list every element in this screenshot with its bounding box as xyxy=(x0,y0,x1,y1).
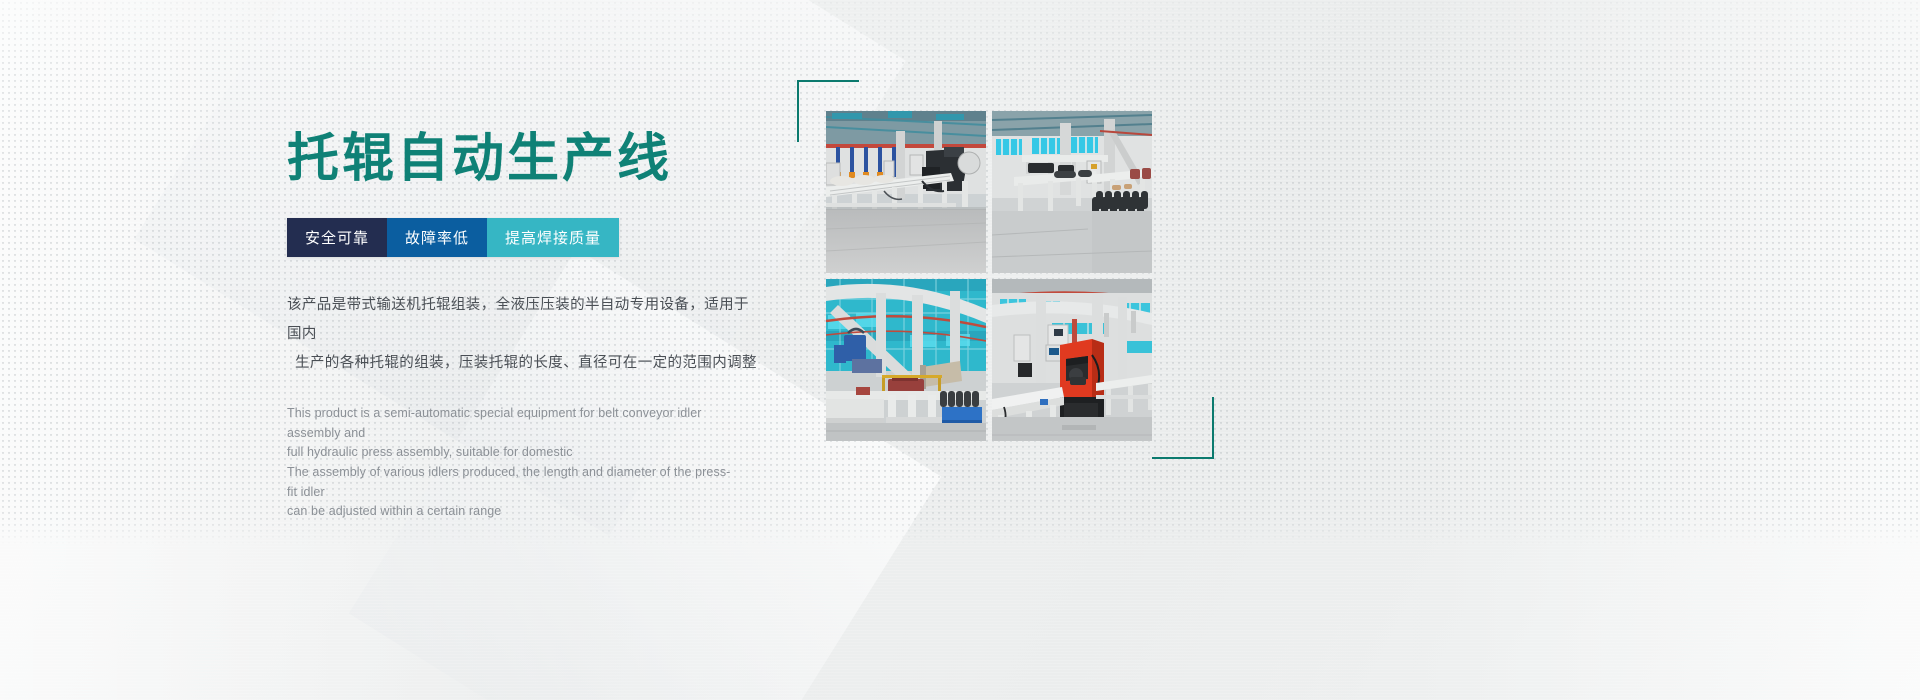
description-en-line-1: This product is a semi-automatic special… xyxy=(287,404,737,443)
banner-text-column: 托辊自动生产线 安全可靠 故障率低 提高焊接质量 该产品是带式输送机托辊组装，全… xyxy=(287,130,757,521)
page-title: 托辊自动生产线 xyxy=(287,130,757,188)
description-chinese: 该产品是带式输送机托辊组装，全液压压装的半自动专用设备，适用于国内 生产的各种托… xyxy=(287,291,757,378)
photo-assembly-hall[interactable] xyxy=(826,279,986,441)
description-en-line-3: The assembly of various idlers produced,… xyxy=(287,463,737,502)
badge-low-failure-rate[interactable]: 故障率低 xyxy=(387,218,487,257)
badge-safe-reliable[interactable]: 安全可靠 xyxy=(287,218,387,257)
photo-grid xyxy=(826,111,1152,441)
badge-improved-weld-quality[interactable]: 提高焊接质量 xyxy=(487,218,619,257)
photo-gallery xyxy=(797,80,1217,480)
description-en-line-2: full hydraulic press assembly, suitable … xyxy=(287,443,737,462)
photo-red-press-machine[interactable] xyxy=(992,279,1152,441)
description-cn-line-1: 该产品是带式输送机托辊组装，全液压压装的半自动专用设备，适用于国内 xyxy=(287,297,749,342)
description-en-line-4: can be adjusted within a certain range xyxy=(287,502,737,521)
description-english: This product is a semi-automatic special… xyxy=(287,404,737,521)
photo-workbench-idler-bin[interactable] xyxy=(992,111,1152,273)
hero-banner: 托辊自动生产线 安全可靠 故障率低 提高焊接质量 该产品是带式输送机托辊组装，全… xyxy=(0,0,1920,700)
corner-bracket-bottom-right-icon xyxy=(1152,397,1214,459)
feature-badge-group: 安全可靠 故障率低 提高焊接质量 xyxy=(287,218,619,257)
photo-conveyor-line[interactable] xyxy=(826,111,986,273)
description-cn-line-2: 生产的各种托辊的组装，压装托辊的长度、直径可在一定的范围内调整 xyxy=(287,349,757,378)
